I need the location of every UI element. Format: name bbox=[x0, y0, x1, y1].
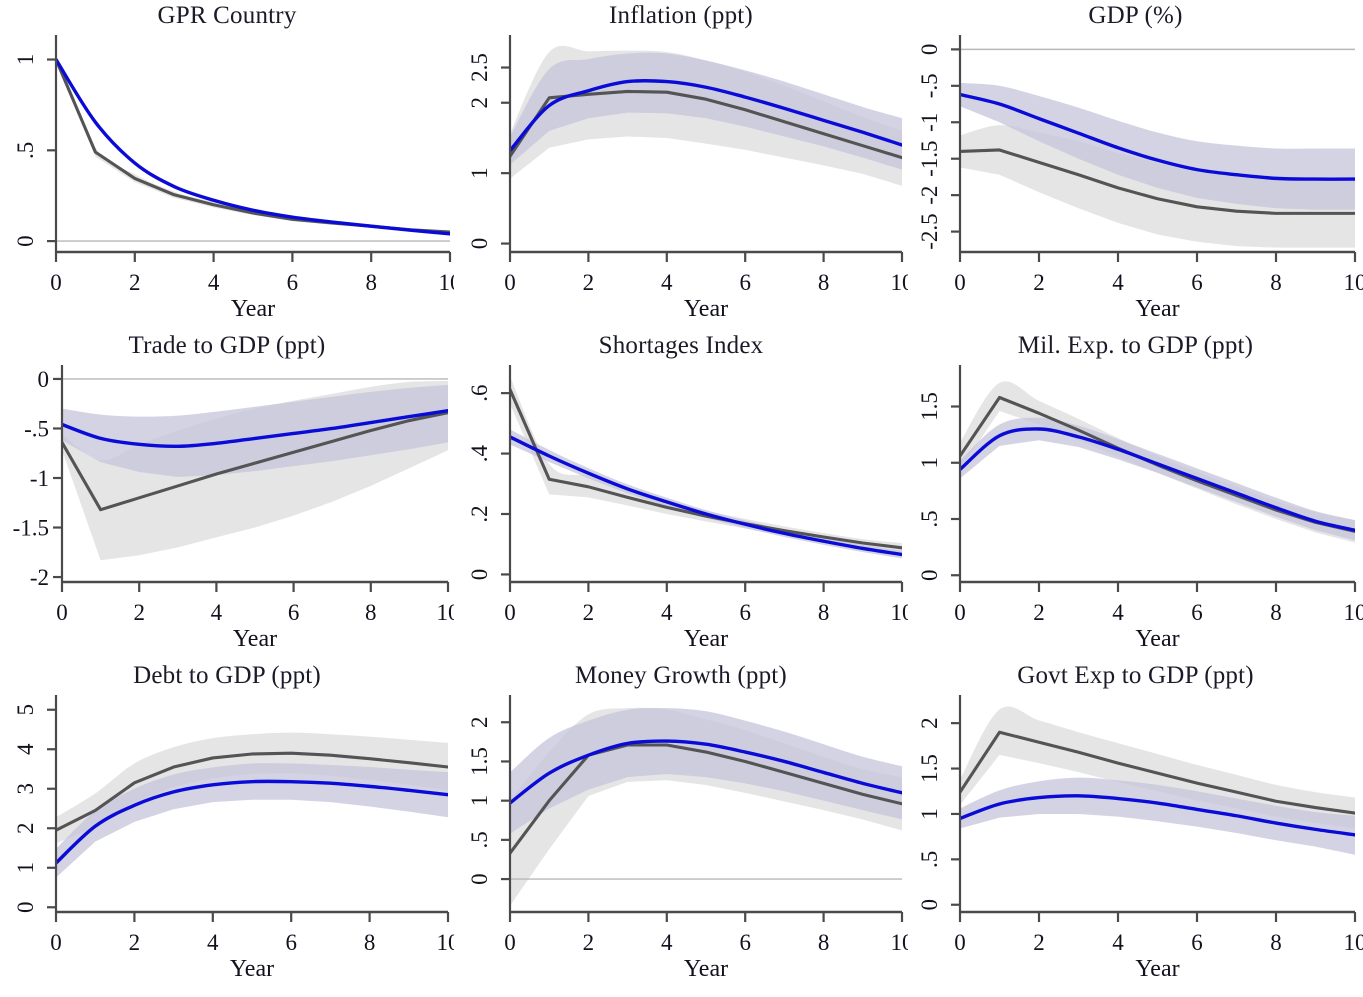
x-tick-label: 6 bbox=[1191, 930, 1203, 955]
y-tick-label: 2 bbox=[13, 823, 38, 835]
x-tick-label: 0 bbox=[504, 930, 516, 955]
plot-area: 0122.50246810Year bbox=[454, 0, 908, 330]
x-tick-label: 8 bbox=[1270, 600, 1282, 625]
chart-panel: Inflation (ppt)0122.50246810Year bbox=[454, 0, 908, 330]
x-tick-label: 2 bbox=[133, 600, 145, 625]
y-tick-label: -2 bbox=[30, 565, 49, 590]
y-tick-label: -1.5 bbox=[917, 140, 942, 176]
y-tick-label: .5 bbox=[917, 510, 942, 527]
y-tick-label: 1 bbox=[13, 54, 38, 66]
x-tick-label: 4 bbox=[661, 930, 673, 955]
x-tick-label: 10 bbox=[1344, 930, 1363, 955]
x-tick-label: 6 bbox=[287, 270, 299, 295]
y-tick-label: 0 bbox=[467, 873, 492, 885]
plot-area: 0123450246810Year bbox=[0, 660, 454, 997]
y-tick-label: 1 bbox=[13, 862, 38, 874]
x-tick-label: 6 bbox=[285, 930, 297, 955]
y-tick-label: 1.5 bbox=[917, 392, 942, 421]
x-tick-label: 0 bbox=[504, 270, 516, 295]
y-tick-label: 1 bbox=[467, 167, 492, 179]
x-axis-label: Year bbox=[231, 296, 275, 322]
y-tick-label: 2 bbox=[467, 97, 492, 109]
chart-panel: GPR Country0.510246810Year bbox=[0, 0, 454, 330]
chart-panel: Trade to GDP (ppt)0-.5-1-1.5-20246810Yea… bbox=[0, 330, 454, 660]
y-tick-label: 1 bbox=[467, 795, 492, 807]
chart-panel: GDP (%)0-.5-1-1.5-2-2.50246810Year bbox=[908, 0, 1363, 330]
x-tick-label: 6 bbox=[739, 600, 751, 625]
x-axis-label: Year bbox=[684, 956, 728, 982]
x-tick-label: 6 bbox=[1191, 270, 1203, 295]
x-axis-label: Year bbox=[684, 296, 728, 322]
x-axis-label: Year bbox=[233, 626, 277, 652]
x-tick-label: 4 bbox=[207, 930, 219, 955]
x-tick-label: 4 bbox=[661, 600, 673, 625]
x-tick-label: 4 bbox=[661, 270, 673, 295]
x-tick-label: 2 bbox=[583, 600, 595, 625]
x-tick-label: 0 bbox=[954, 600, 966, 625]
y-tick-label: 1 bbox=[917, 457, 942, 469]
x-tick-label: 4 bbox=[1112, 270, 1124, 295]
y-tick-label: 0 bbox=[467, 569, 492, 581]
x-tick-label: 2 bbox=[1033, 930, 1045, 955]
plot-area: 0.511.50246810Year bbox=[908, 330, 1363, 660]
y-tick-label: .5 bbox=[467, 831, 492, 848]
x-tick-label: 4 bbox=[1112, 930, 1124, 955]
x-tick-label: 10 bbox=[1344, 600, 1363, 625]
x-tick-label: 8 bbox=[818, 930, 830, 955]
y-tick-label: 4 bbox=[13, 743, 38, 755]
y-tick-label: .5 bbox=[13, 142, 38, 159]
x-tick-label: 0 bbox=[954, 270, 966, 295]
y-tick-label: .2 bbox=[467, 505, 492, 522]
x-tick-label: 6 bbox=[1191, 600, 1203, 625]
x-tick-label: 4 bbox=[208, 270, 220, 295]
series-line-blue bbox=[56, 60, 450, 234]
x-tick-label: 10 bbox=[1344, 270, 1363, 295]
y-tick-label: -1 bbox=[30, 466, 49, 491]
chart-panel: Money Growth (ppt)0.511.520246810Year bbox=[454, 660, 908, 997]
x-axis-label: Year bbox=[1135, 956, 1179, 982]
x-tick-label: 0 bbox=[50, 930, 62, 955]
y-tick-label: 5 bbox=[13, 704, 38, 716]
confidence-band bbox=[960, 418, 1355, 541]
x-tick-label: 8 bbox=[365, 270, 377, 295]
x-axis-label: Year bbox=[230, 956, 274, 982]
plot-area: 0-.5-1-1.5-2-2.50246810Year bbox=[908, 0, 1363, 330]
y-tick-label: 2.5 bbox=[467, 53, 492, 82]
x-tick-label: 0 bbox=[50, 270, 62, 295]
x-tick-label: 2 bbox=[583, 270, 595, 295]
y-tick-label: -2.5 bbox=[917, 213, 942, 249]
y-tick-label: 0 bbox=[917, 899, 942, 911]
y-tick-label: 0 bbox=[13, 902, 38, 914]
y-tick-label: -.5 bbox=[24, 416, 49, 441]
x-tick-label: 8 bbox=[818, 270, 830, 295]
x-tick-label: 0 bbox=[504, 600, 516, 625]
x-tick-label: 2 bbox=[1033, 270, 1045, 295]
y-tick-label: .4 bbox=[467, 444, 492, 462]
y-tick-label: 2 bbox=[467, 717, 492, 729]
chart-panel: Shortages Index0.2.4.60246810Year bbox=[454, 330, 908, 660]
plot-area: 0.2.4.60246810Year bbox=[454, 330, 908, 660]
y-tick-label: 3 bbox=[13, 783, 38, 795]
y-tick-label: 0 bbox=[38, 367, 50, 392]
x-tick-label: 10 bbox=[891, 930, 909, 955]
x-tick-label: 2 bbox=[129, 930, 141, 955]
x-tick-label: 0 bbox=[56, 600, 68, 625]
plot-area: 0-.5-1-1.5-20246810Year bbox=[0, 330, 454, 660]
y-tick-label: 2 bbox=[917, 717, 942, 729]
x-tick-label: 4 bbox=[1112, 600, 1124, 625]
y-tick-label: -1.5 bbox=[13, 516, 49, 541]
x-tick-label: 6 bbox=[739, 930, 751, 955]
y-tick-label: 0 bbox=[13, 235, 38, 247]
x-tick-label: 2 bbox=[129, 270, 141, 295]
x-tick-label: 10 bbox=[891, 270, 909, 295]
x-tick-label: 4 bbox=[211, 600, 223, 625]
x-tick-label: 10 bbox=[891, 600, 909, 625]
y-tick-label: 0 bbox=[917, 570, 942, 582]
y-tick-label: -.5 bbox=[917, 73, 942, 98]
x-tick-label: 8 bbox=[364, 930, 376, 955]
y-tick-label: -1 bbox=[917, 113, 942, 132]
chart-panel: Govt Exp to GDP (ppt)0.511.520246810Year bbox=[908, 660, 1363, 997]
plot-area: 0.511.520246810Year bbox=[908, 660, 1363, 997]
x-tick-label: 0 bbox=[954, 930, 966, 955]
y-tick-label: 0 bbox=[917, 44, 942, 56]
x-tick-label: 2 bbox=[583, 930, 595, 955]
y-tick-label: 1 bbox=[917, 808, 942, 820]
x-axis-label: Year bbox=[1135, 626, 1179, 652]
y-tick-label: .6 bbox=[467, 385, 492, 402]
x-tick-label: 8 bbox=[365, 600, 377, 625]
plot-area: 0.510246810Year bbox=[0, 0, 454, 330]
x-tick-label: 8 bbox=[1270, 930, 1282, 955]
chart-panel: Debt to GDP (ppt)0123450246810Year bbox=[0, 660, 454, 997]
x-tick-label: 10 bbox=[437, 930, 455, 955]
x-tick-label: 8 bbox=[1270, 270, 1282, 295]
x-tick-label: 10 bbox=[439, 270, 455, 295]
x-tick-label: 2 bbox=[1033, 600, 1045, 625]
y-tick-label: .5 bbox=[917, 851, 942, 868]
y-tick-label: 1.5 bbox=[467, 747, 492, 776]
x-axis-label: Year bbox=[1135, 296, 1179, 322]
chart-panel: Mil. Exp. to GDP (ppt)0.511.50246810Year bbox=[908, 330, 1363, 660]
y-tick-label: 1.5 bbox=[917, 754, 942, 783]
plot-area: 0.511.520246810Year bbox=[454, 660, 908, 997]
x-tick-label: 10 bbox=[437, 600, 455, 625]
x-tick-label: 6 bbox=[739, 270, 751, 295]
chart-grid: GPR Country0.510246810YearInflation (ppt… bbox=[0, 0, 1363, 997]
x-axis-label: Year bbox=[684, 626, 728, 652]
x-tick-label: 8 bbox=[818, 600, 830, 625]
y-tick-label: -2 bbox=[917, 186, 942, 205]
y-tick-label: 0 bbox=[467, 238, 492, 250]
series-line-blue bbox=[960, 429, 1355, 530]
x-tick-label: 6 bbox=[288, 600, 300, 625]
